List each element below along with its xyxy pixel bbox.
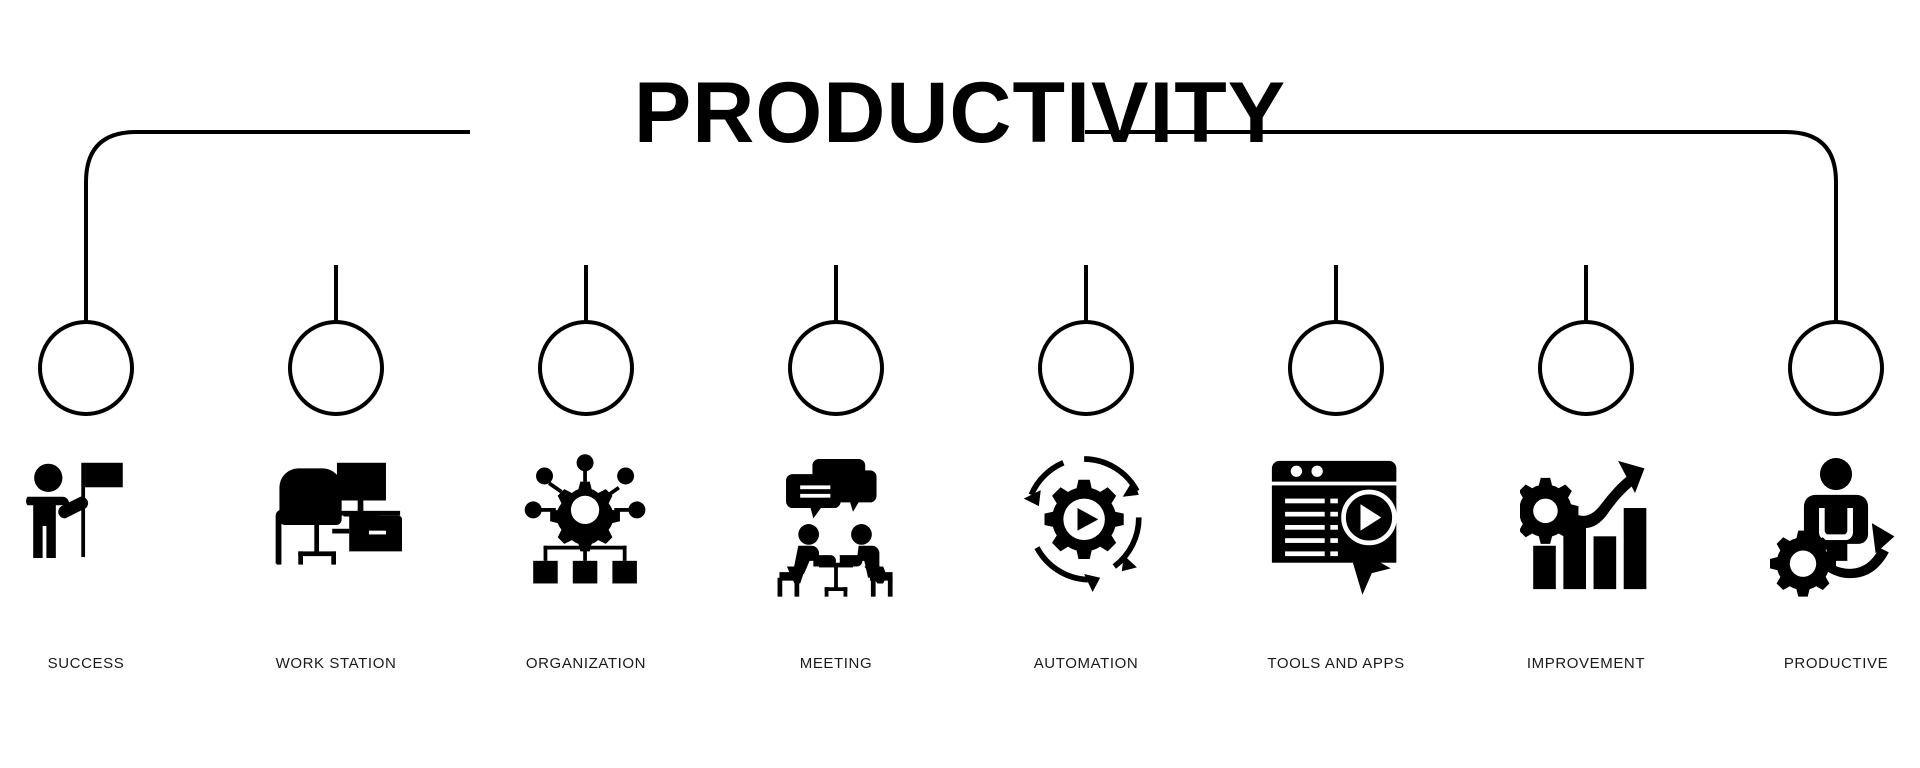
desk-chair-monitor-icon	[270, 450, 402, 600]
node-label: AUTOMATION	[966, 655, 1206, 672]
node-label: MEETING	[716, 655, 956, 672]
node-label: IMPROVEMENT	[1466, 655, 1706, 672]
node-label: WORK STATION	[216, 655, 456, 672]
productivity-infographic-banner: PRODUCTIVITY SUCCESS WORK STATION ORGANI…	[0, 0, 1920, 768]
two-people-table-chat-icon	[770, 450, 902, 600]
node-label: ORGANIZATION	[466, 655, 706, 672]
node-label: PRODUCTIVE	[1716, 655, 1920, 672]
node-label: SUCCESS	[0, 655, 206, 672]
gear-network-hierarchy-icon	[520, 450, 652, 600]
gear-play-cycle-arrows-icon	[1020, 450, 1152, 600]
person-gear-arrow-icon	[1770, 450, 1902, 600]
node-label: TOOLS AND APPS	[1216, 655, 1456, 672]
node-layer: SUCCESS WORK STATION ORGANIZATION	[0, 0, 1920, 768]
bar-chart-gear-arrow-icon	[1520, 450, 1652, 600]
browser-window-cursor-icon	[1270, 450, 1402, 600]
person-with-flag-icon	[20, 450, 152, 600]
